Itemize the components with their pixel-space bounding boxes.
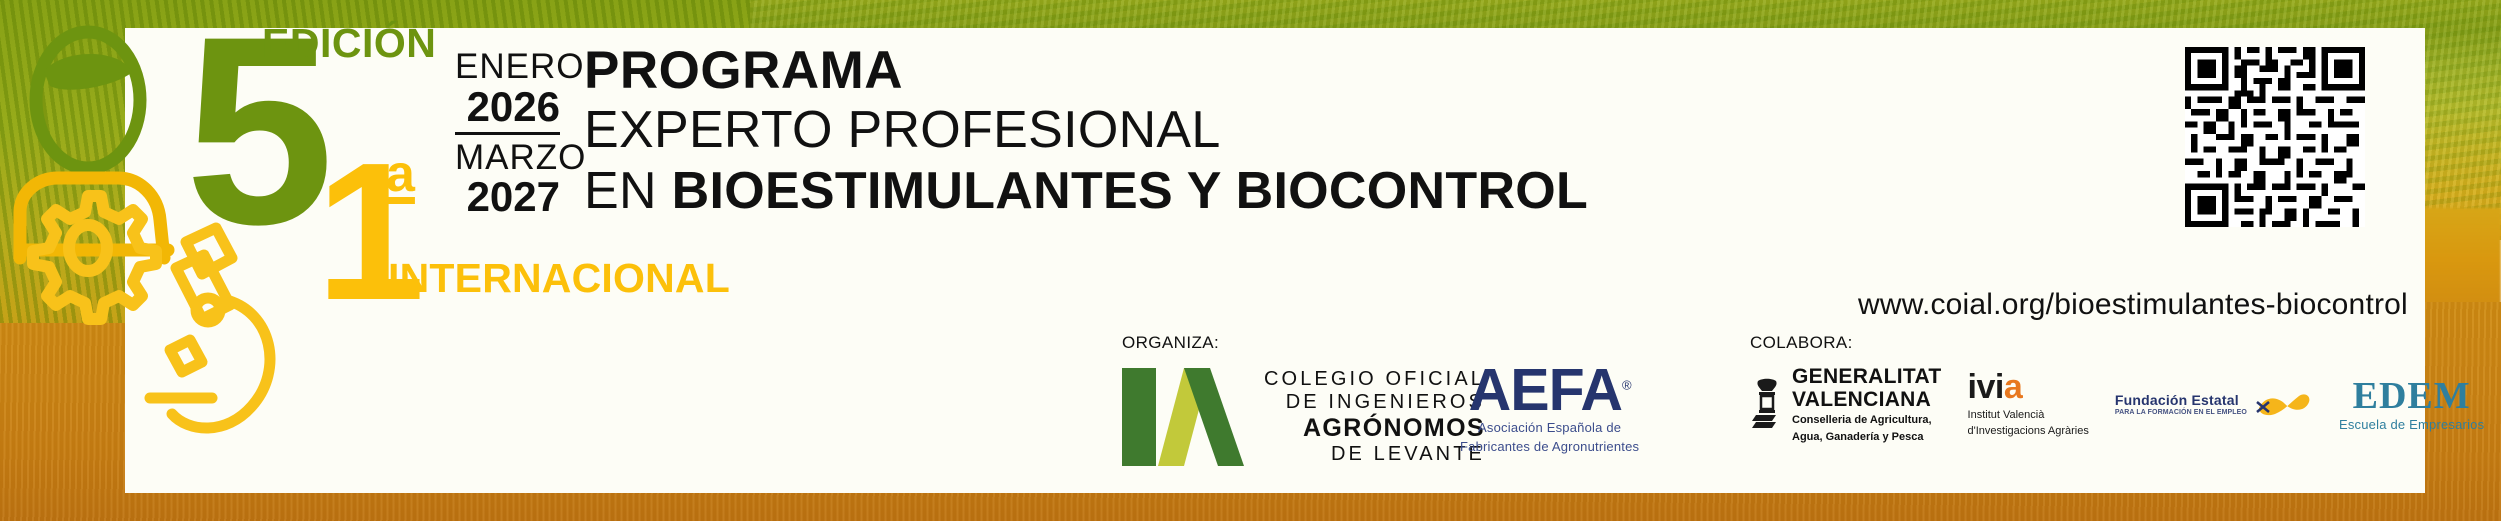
generalitat-sub-1: Conselleria de Agricultura, — [1792, 414, 1942, 427]
aefa-wordmark: AEFA® — [1460, 362, 1639, 418]
generalitat-logo: GENERALITAT VALENCIANA Conselleria de Ag… — [1750, 365, 1942, 444]
end-month: MARZO — [455, 139, 560, 177]
coial-wordmark: COLEGIO OFICIAL DE INGENIEROS AGRÓNOMOS … — [1264, 368, 1485, 467]
generalitat-line-2: VALENCIANA — [1792, 388, 1942, 411]
ivia-sub-1: Institut Valencià — [1968, 408, 2089, 422]
fundacion-line-1: Fundación Estatal — [2115, 392, 2247, 409]
event-banner: 5 EDICIÓN 1 a INTERNACIONAL ENERO 2026 M… — [0, 0, 2501, 521]
coial-line-1: COLEGIO OFICIAL — [1264, 368, 1485, 391]
date-divider — [455, 132, 560, 135]
coial-line-4: DE LEVANTE — [1264, 443, 1485, 466]
generalitat-sub-2: Agua, Ganadería y Pesca — [1792, 431, 1942, 444]
colabora-logos: GENERALITAT VALENCIANA Conselleria de Ag… — [1750, 365, 2484, 444]
edem-logo: EDEM Escuela de Empresarios — [2339, 377, 2484, 432]
edem-subtitle: Escuela de Empresarios — [2339, 418, 2484, 432]
coial-line-3: AGRÓNOMOS — [1264, 414, 1485, 443]
edition-label: EDICIÓN — [262, 20, 436, 67]
aefa-mark-text: AEFA — [1469, 357, 1622, 423]
fundacion-wordmark: Fundación Estatal PARA LA FORMACIÓN EN E… — [2115, 392, 2247, 417]
generalitat-line-1: GENERALITAT — [1792, 365, 1942, 388]
start-month: ENERO — [455, 48, 560, 86]
edem-wordmark: EDEM — [2339, 377, 2484, 417]
program-title: PROGRAMA EXPERTO PROFESIONAL EN BIOESTIM… — [584, 42, 1588, 221]
fundacion-estatal-logo: Fundación Estatal PARA LA FORMACIÓN EN E… — [2115, 388, 2313, 422]
generalitat-wordmark: GENERALITAT VALENCIANA Conselleria de Ag… — [1792, 365, 1942, 444]
coial-mark-icon — [1122, 362, 1250, 472]
ivia-logo: ivia Institut Valencià d'Investigacions … — [1968, 370, 2089, 438]
ordinal-suffix: a — [386, 144, 415, 204]
end-year: 2027 — [455, 176, 560, 219]
coial-line-2: DE INGENIEROS — [1264, 391, 1485, 414]
date-range: ENERO 2026 MARZO 2027 — [455, 48, 560, 219]
colabora-block: COLABORA: GENERALITAT VALENCIANA Conse — [1750, 333, 2484, 444]
aefa-subtitle-2: Fabricantes de Agronutrientes — [1460, 439, 1639, 456]
fundacion-swoosh-icon — [2255, 388, 2313, 422]
title-line-programa: PROGRAMA — [584, 42, 1588, 99]
title-subject: BIOESTIMULANTES Y BIOCONTROL — [672, 162, 1589, 220]
organiza-block: ORGANIZA: COLEGIO OFICIAL DE INGENIEROS … — [1122, 333, 1485, 472]
start-year: 2026 — [455, 86, 560, 129]
colabora-label: COLABORA: — [1750, 333, 2484, 353]
ivia-mark-accent: a — [2004, 368, 2022, 406]
website-url[interactable]: www.coial.org/bioestimulantes-biocontrol — [1858, 288, 2408, 322]
fundacion-line-2: PARA LA FORMACIÓN EN EL EMPLEO — [2115, 409, 2247, 417]
coial-logo: COLEGIO OFICIAL DE INGENIEROS AGRÓNOMOS … — [1122, 362, 1485, 472]
qr-code-icon[interactable] — [2185, 47, 2365, 227]
ordinal-label: INTERNACIONAL — [388, 255, 730, 302]
ivia-mark-prefix: ivi — [1968, 368, 2004, 406]
title-line-subject: EN BIOESTIMULANTES Y BIOCONTROL — [584, 162, 1588, 220]
aefa-registered-mark: ® — [1622, 377, 1631, 392]
organiza-label: ORGANIZA: — [1122, 333, 1485, 353]
generalitat-crest-icon — [1750, 377, 1784, 433]
title-prefix-en: EN — [584, 162, 672, 220]
ivia-wordmark: ivia — [1968, 370, 2089, 406]
aefa-logo: AEFA® Asociación Española de Fabricantes… — [1460, 362, 1639, 456]
ivia-sub-2: d'Investigacions Agràries — [1968, 424, 2089, 438]
title-line-experto: EXPERTO PROFESIONAL — [584, 101, 1588, 159]
